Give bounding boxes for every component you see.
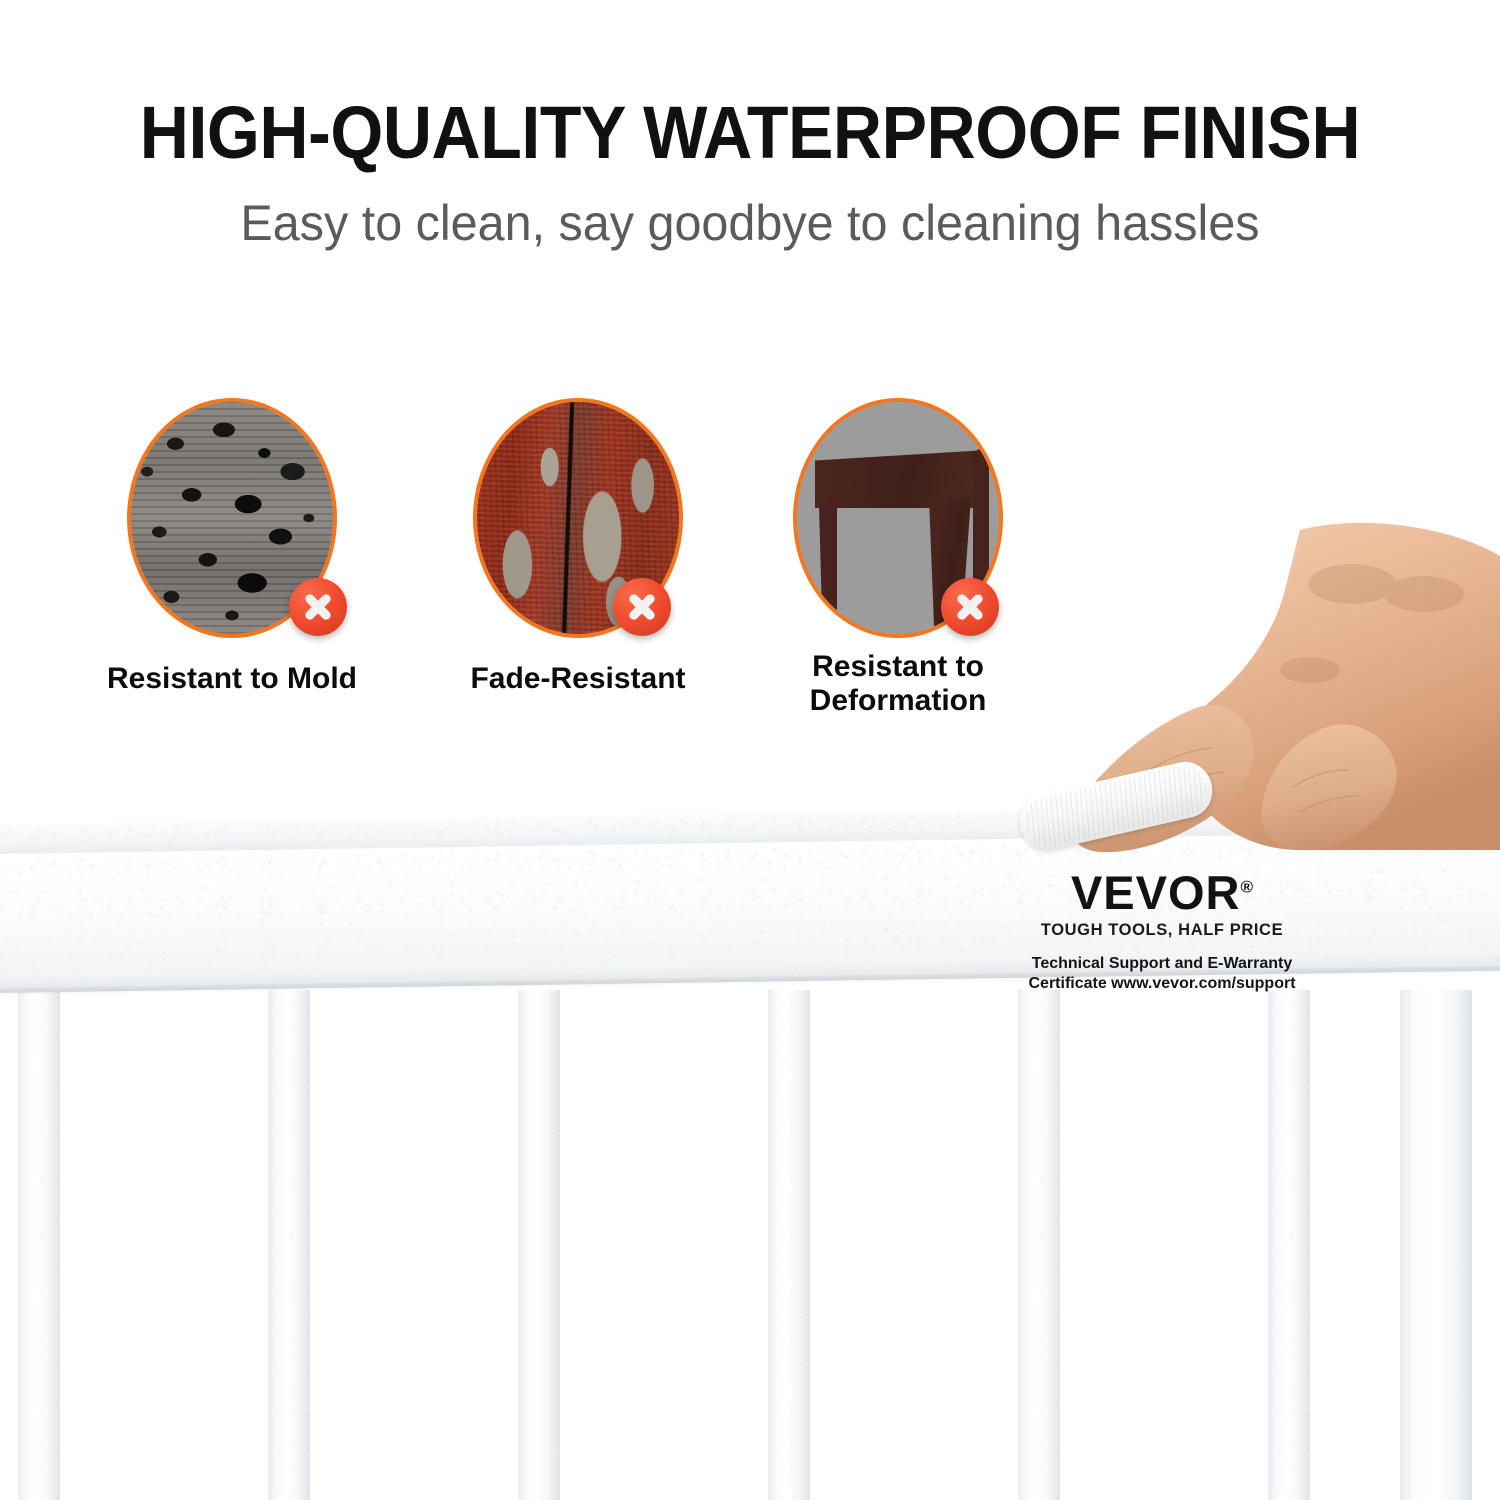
brand-logo: VEVOR® bbox=[1071, 869, 1253, 916]
baluster bbox=[18, 990, 60, 1500]
brand-tagline: TOUGH TOOLS, HALF PRICE bbox=[1012, 921, 1312, 940]
railing-post bbox=[1400, 990, 1472, 1500]
x-mark-icon bbox=[941, 578, 999, 636]
baluster bbox=[768, 990, 810, 1500]
x-mark-icon bbox=[289, 578, 347, 636]
x-mark-icon bbox=[613, 578, 671, 636]
feature-label-fade: Fade-Resistant bbox=[408, 662, 748, 696]
feature-label-mold: Resistant to Mold bbox=[62, 662, 402, 696]
baluster bbox=[1268, 990, 1310, 1500]
registered-trademark-icon: ® bbox=[1241, 877, 1254, 896]
baluster bbox=[518, 990, 560, 1500]
marketing-image: HIGH-QUALITY WATERPROOF FINISH Easy to c… bbox=[0, 0, 1500, 1500]
brand-block: VEVOR® TOUGH TOOLS, HALF PRICE Technical… bbox=[1012, 869, 1312, 993]
baluster bbox=[268, 990, 310, 1500]
brand-name-text: VEVOR bbox=[1071, 866, 1241, 919]
support-text: Technical Support and E-Warranty Certifi… bbox=[1012, 954, 1312, 993]
baluster bbox=[1018, 990, 1060, 1500]
hand-with-cloth bbox=[1000, 520, 1500, 880]
